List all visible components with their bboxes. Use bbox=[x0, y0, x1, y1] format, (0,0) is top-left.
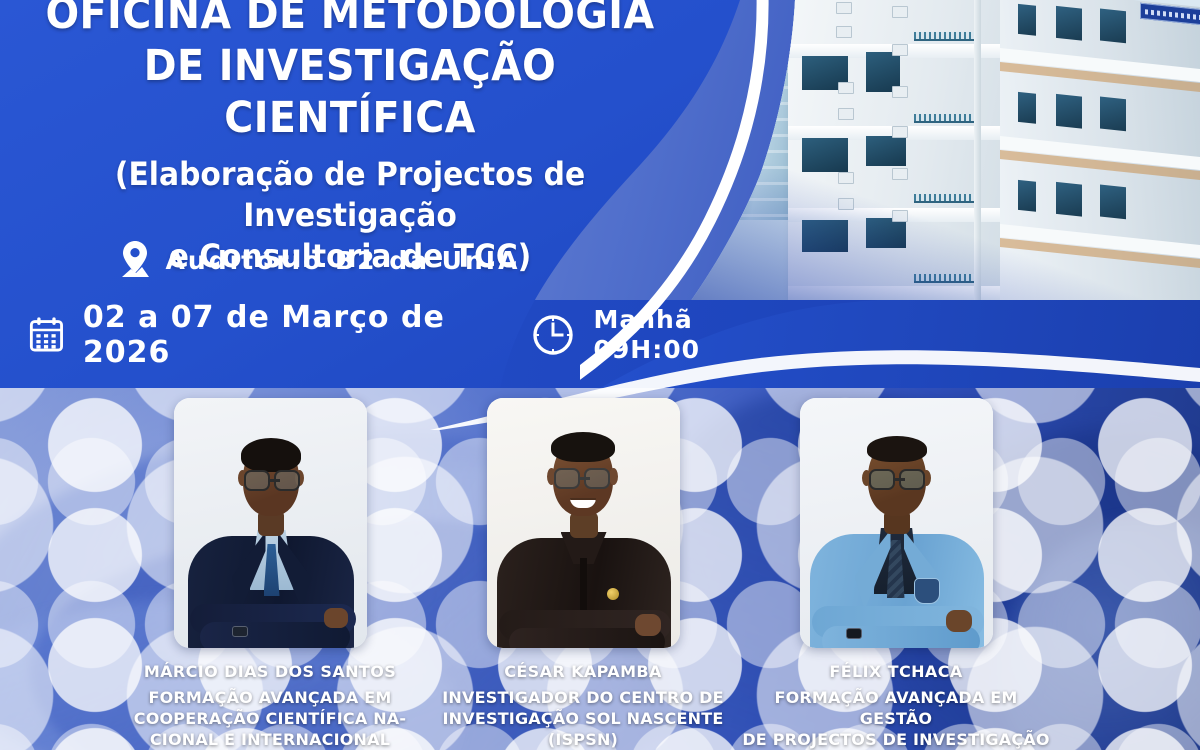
poster-heading: OFICINA DE METODOLOGIA DE INVESTIGAÇÃO C… bbox=[0, 0, 700, 277]
speaker-name: CÉSAR KAPAMBA bbox=[423, 662, 743, 681]
speaker-role-line-3: (ISPSN) bbox=[423, 729, 743, 750]
date-group: 02 a 07 de Março de 2026 bbox=[28, 300, 469, 370]
venue-row: Auditório B2 da UnIA bbox=[0, 240, 640, 280]
time-line-1: Manhã bbox=[593, 305, 700, 335]
speakers-section: MÁRCIO DIAS DOS SANTOS FORMAÇÃO AVANÇADA… bbox=[0, 398, 1200, 750]
speaker-name: FÉLIX TCHACA bbox=[736, 662, 1056, 681]
time-group: Manhã 09H:00 bbox=[531, 305, 700, 365]
speaker-role-line-2: INVESTIGAÇÃO SOL NASCENTE bbox=[423, 708, 743, 729]
speaker-role-line-1: INVESTIGADOR DO CENTRO DE bbox=[423, 687, 743, 708]
speaker-photo-felix bbox=[800, 398, 993, 648]
map-pin-icon bbox=[120, 240, 150, 280]
time-label: Manhã 09H:00 bbox=[593, 305, 700, 365]
speaker-card-2: CÉSAR KAPAMBA INVESTIGADOR DO CENTRO DE … bbox=[423, 398, 743, 750]
speaker-card-1: MÁRCIO DIAS DOS SANTOS FORMAÇÃO AVANÇADA… bbox=[110, 398, 430, 750]
subtitle-line-1: (Elaboração de Projectos de Investigação bbox=[25, 154, 676, 236]
title-line-2: DE INVESTIGAÇÃO CIENTÍFICA bbox=[144, 41, 557, 143]
speaker-name: MÁRCIO DIAS DOS SANTOS bbox=[110, 662, 430, 681]
speaker-role: FORMAÇÃO AVANÇADA EM COOPERAÇÃO CIENTÍFI… bbox=[110, 687, 430, 750]
speaker-role: INVESTIGADOR DO CENTRO DE INVESTIGAÇÃO S… bbox=[423, 687, 743, 750]
speaker-role-line-1: FORMAÇÃO AVANÇADA EM GESTÃO bbox=[736, 687, 1056, 729]
speaker-photo-cesar bbox=[487, 398, 680, 648]
title-line-1: OFICINA DE METODOLOGIA bbox=[28, 0, 672, 40]
speaker-role-line-2: DE PROJECTOS DE INVESTIGAÇÃO E bbox=[736, 729, 1056, 750]
calendar-icon bbox=[28, 312, 65, 358]
date-label: 02 a 07 de Março de 2026 bbox=[83, 300, 470, 370]
venue-label: Auditório B2 da UnIA bbox=[166, 246, 521, 275]
time-line-2: 09H:00 bbox=[593, 335, 700, 365]
speaker-role: FORMAÇÃO AVANÇADA EM GESTÃO DE PROJECTOS… bbox=[736, 687, 1056, 750]
speaker-role-line-1: FORMAÇÃO AVANÇADA EM bbox=[110, 687, 430, 708]
speaker-photo-marcio bbox=[174, 398, 367, 648]
event-poster: OFICINA DE METODOLOGIA DE INVESTIGAÇÃO C… bbox=[0, 0, 1200, 750]
speaker-card-3: FÉLIX TCHACA FORMAÇÃO AVANÇADA EM GESTÃO… bbox=[736, 398, 1056, 750]
page-title: OFICINA DE METODOLOGIA DE INVESTIGAÇÃO C… bbox=[28, 0, 672, 144]
speaker-role-line-2: COOPERAÇÃO CIENTÍFICA NA- bbox=[110, 708, 430, 729]
clock-icon bbox=[531, 312, 575, 358]
speaker-role-line-3: CIONAL E INTERNACIONAL bbox=[110, 729, 430, 750]
date-time-row: 02 a 07 de Março de 2026 Manhã 09H:00 bbox=[0, 300, 700, 370]
